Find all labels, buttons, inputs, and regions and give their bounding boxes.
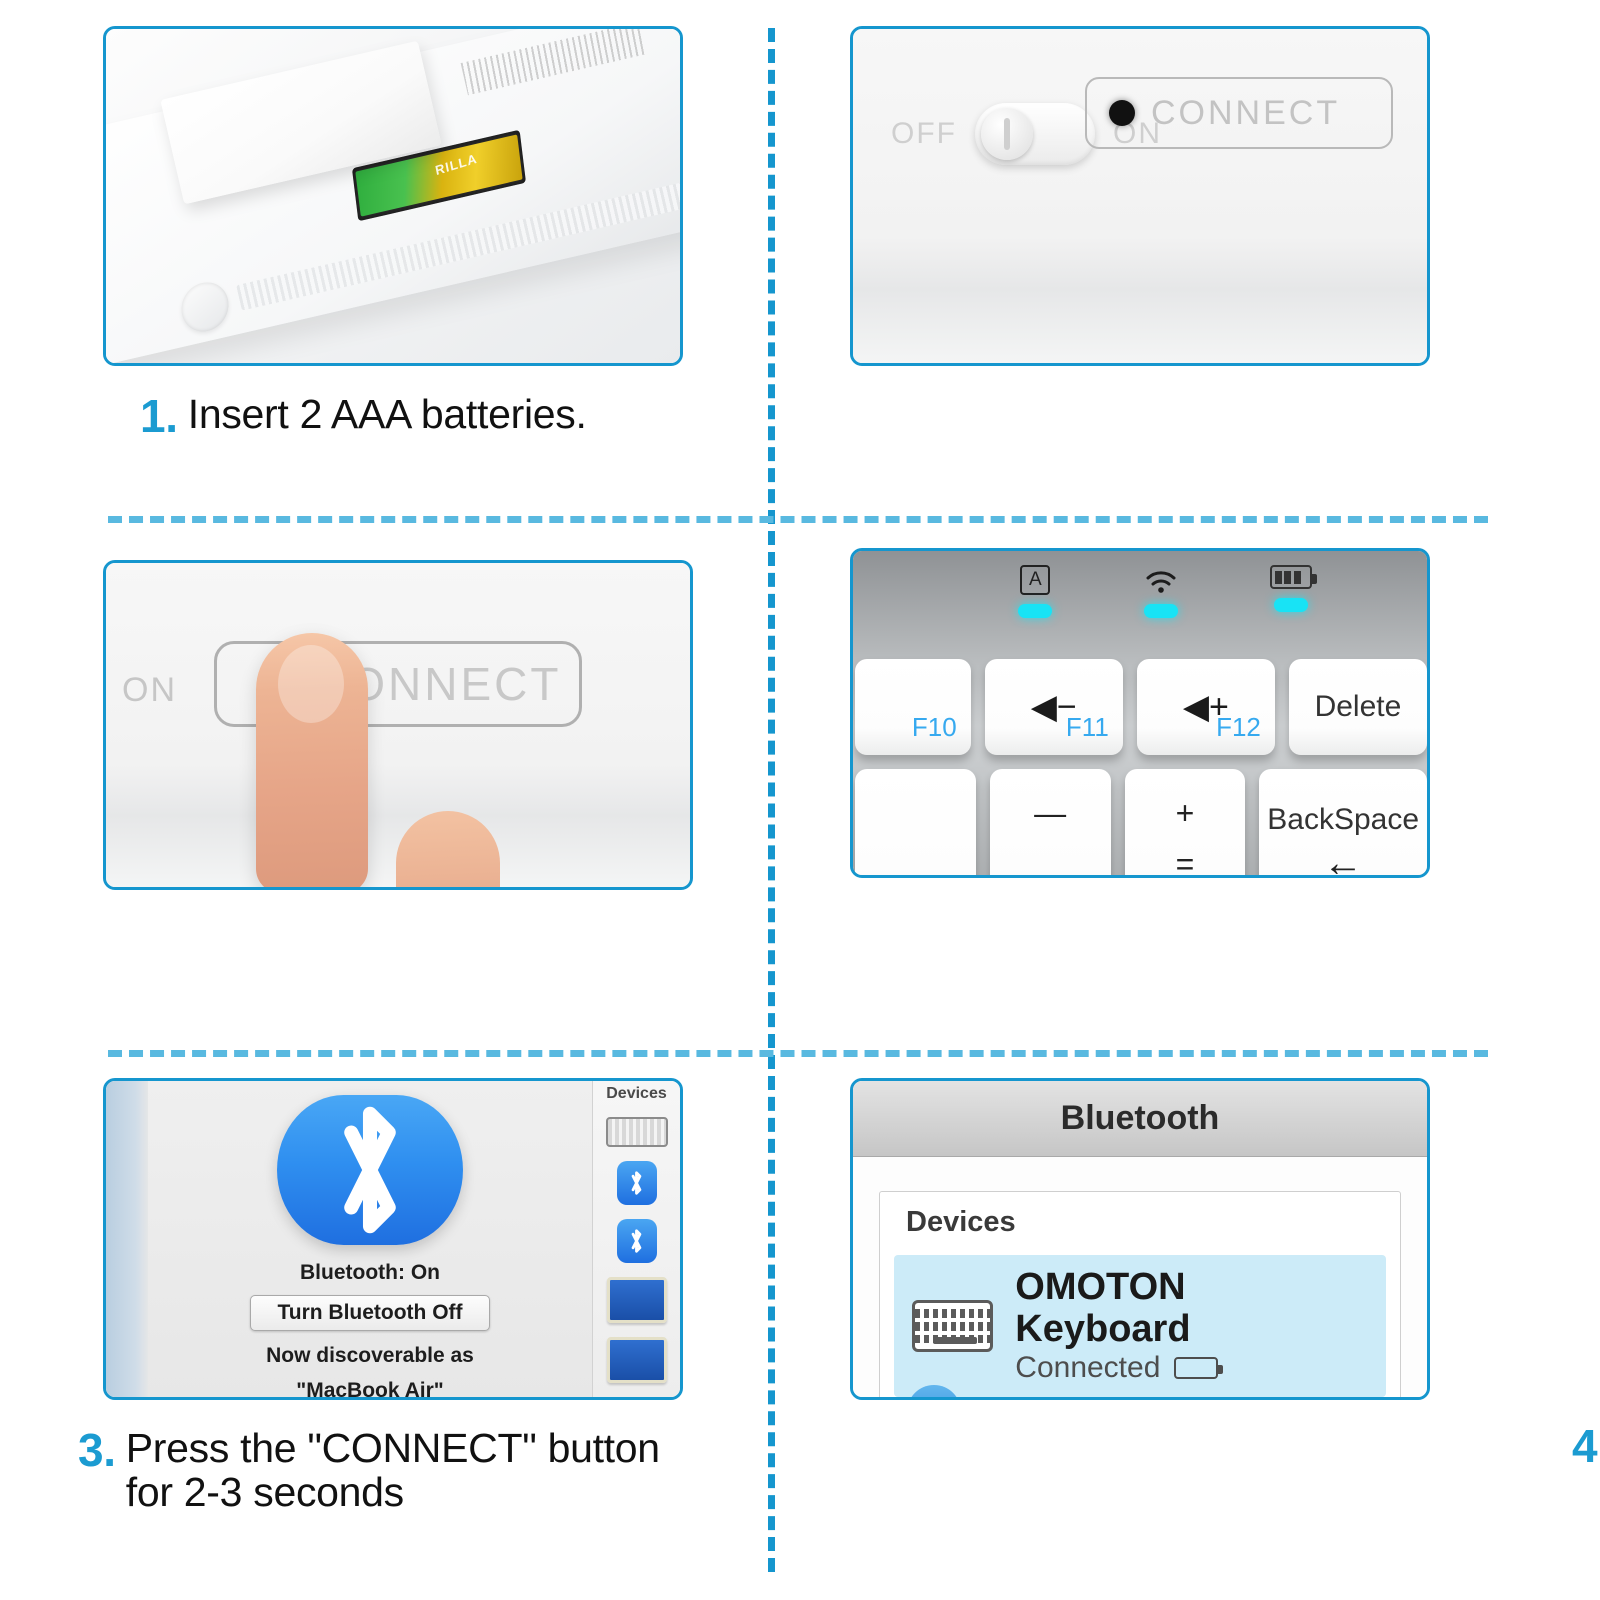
indicator-battery	[1270, 565, 1312, 612]
key-minus-top: —	[1034, 795, 1066, 832]
key-spacer	[855, 769, 976, 878]
device-row-text: OMOTON Keyboard Connected	[1015, 1267, 1368, 1385]
step-6: Bluetooth Devices OMOTON Keyboard Connec…	[768, 1050, 1600, 1600]
number-key-row: — _ + = BackSpace	[853, 769, 1427, 878]
bluetooth-status: Bluetooth: On	[300, 1261, 440, 1285]
key-minus-bottom: _	[1041, 846, 1059, 878]
step-5-photo: Bluetooth: On Turn Bluetooth Off Now dis…	[103, 1078, 683, 1400]
preferences-body: Devices OMOTON Keyboard Connected	[853, 1157, 1427, 1400]
step-4: A	[768, 516, 1600, 1050]
step-3: ON CONNECT 3. Press the "CONNECT" button…	[0, 516, 768, 1050]
key-backspace-labels: BackSpace ←	[1267, 803, 1419, 875]
key-delete[interactable]: Delete	[1289, 659, 1427, 755]
connect-indicator-dot	[1109, 100, 1135, 126]
key-f12-label: F12	[1216, 712, 1261, 743]
keyboard-topcase: A	[853, 551, 1427, 875]
slider-knob	[981, 108, 1033, 160]
keyboard-icon	[912, 1300, 993, 1352]
off-label: OFF	[891, 117, 957, 151]
key-minus-underscore[interactable]: — _	[990, 769, 1111, 878]
battery-icon	[1174, 1357, 1218, 1379]
desktop-edge	[106, 1081, 148, 1397]
indicator-caps-lock: A	[1018, 565, 1052, 618]
battery-led	[1274, 598, 1308, 612]
step-2-photo: OFF ON CONNECT	[850, 26, 1430, 366]
devices-sidebar-header: Devices	[606, 1085, 667, 1103]
device-name: OMOTON Keyboard	[1015, 1266, 1190, 1350]
devices-list: Devices OMOTON Keyboard Connected	[879, 1191, 1401, 1400]
bluetooth-device-icon-2[interactable]	[617, 1219, 657, 1263]
discoverable-device-name: "MacBook Air"	[296, 1379, 444, 1400]
battery-icon	[1270, 565, 1312, 589]
key-plus-bottom: =	[1176, 846, 1195, 878]
on-label: ON	[122, 671, 177, 710]
keyboard-underside: RILLA	[106, 29, 680, 363]
mac-bluetooth-menu: Bluetooth: On Turn Bluetooth Off Now dis…	[106, 1081, 680, 1397]
turn-bluetooth-off-button[interactable]: Turn Bluetooth Off	[250, 1295, 489, 1331]
device-status: Connected	[1015, 1351, 1160, 1385]
key-f11-label: F11	[1066, 712, 1109, 743]
key-f11-volume-down[interactable]: ◀− F11	[985, 659, 1123, 755]
instruction-sheet: RILLA 1. Insert 2 AAA batteries. OFF	[0, 0, 1600, 1600]
devices-list-header: Devices	[880, 1206, 1400, 1239]
step-5: Bluetooth: On Turn Bluetooth Off Now dis…	[0, 1050, 768, 1600]
key-plus-labels: + =	[1176, 795, 1195, 878]
step-3-photo: ON CONNECT	[103, 560, 693, 890]
key-delete-label: Delete	[1315, 690, 1402, 724]
indicator-row: A	[853, 565, 1427, 657]
caps-lock-icon: A	[1020, 565, 1050, 595]
discoverable-label: Now discoverable as	[266, 1344, 474, 1368]
key-f12-volume-up[interactable]: ◀+ F12	[1137, 659, 1275, 755]
step-4-photo: A	[850, 548, 1430, 878]
bluetooth-led	[1144, 604, 1178, 618]
bluetooth-menu-body: Bluetooth: On Turn Bluetooth Off Now dis…	[148, 1081, 592, 1397]
connect-button-closeup: ON CONNECT	[106, 563, 690, 887]
backspace-arrow-icon: ←	[1323, 851, 1363, 875]
finger-icon	[256, 633, 368, 890]
key-minus-labels: — _	[1034, 795, 1066, 878]
key-backspace-label: BackSpace	[1267, 803, 1419, 837]
key-plus-equals[interactable]: + =	[1125, 769, 1246, 878]
steps-grid: RILLA 1. Insert 2 AAA batteries. OFF	[0, 0, 1600, 1600]
function-key-row: F10 ◀− F11 ◀+ F12 Delete	[853, 659, 1427, 755]
key-plus-top: +	[1176, 795, 1195, 832]
caps-lock-led	[1018, 604, 1052, 618]
bluetooth-preferences-window: Bluetooth Devices OMOTON Keyboard Connec…	[853, 1081, 1427, 1397]
power-switch-slider[interactable]	[975, 103, 1095, 165]
key-backspace[interactable]: BackSpace ←	[1259, 769, 1427, 878]
step-1: RILLA 1. Insert 2 AAA batteries.	[0, 0, 768, 516]
step-1-text: Insert 2 AAA batteries.	[188, 392, 587, 436]
second-finger-icon	[396, 811, 500, 890]
device-status-row: Connected	[1015, 1351, 1368, 1385]
indicator-bluetooth	[1143, 565, 1179, 618]
bluetooth-device-icon-1[interactable]	[617, 1161, 657, 1205]
step-2: OFF ON CONNECT 2. Slide the power switch…	[768, 0, 1600, 516]
device-row-omoton-keyboard[interactable]: OMOTON Keyboard Connected	[894, 1255, 1386, 1397]
key-f10-label: F10	[912, 712, 957, 743]
step-1-photo: RILLA	[103, 26, 683, 366]
step-1-caption: 1. Insert 2 AAA batteries.	[140, 392, 587, 442]
monitor-icon-1[interactable]	[607, 1277, 667, 1323]
bluetooth-signal-icon	[1143, 565, 1179, 595]
keyboard-side-panel: OFF ON CONNECT	[853, 29, 1427, 363]
connect-button[interactable]: CONNECT	[1085, 77, 1393, 149]
step-1-number: 1.	[140, 392, 178, 442]
monitor-icon-2[interactable]	[607, 1337, 667, 1383]
devices-sidebar: Devices	[592, 1081, 680, 1397]
window-title: Bluetooth	[853, 1081, 1427, 1157]
keyboard-icon[interactable]	[606, 1117, 668, 1147]
key-f10[interactable]: F10	[855, 659, 971, 755]
connect-button-label: CONNECT	[1151, 94, 1340, 133]
step-6-photo: Bluetooth Devices OMOTON Keyboard Connec…	[850, 1078, 1430, 1400]
bluetooth-icon	[277, 1095, 463, 1245]
